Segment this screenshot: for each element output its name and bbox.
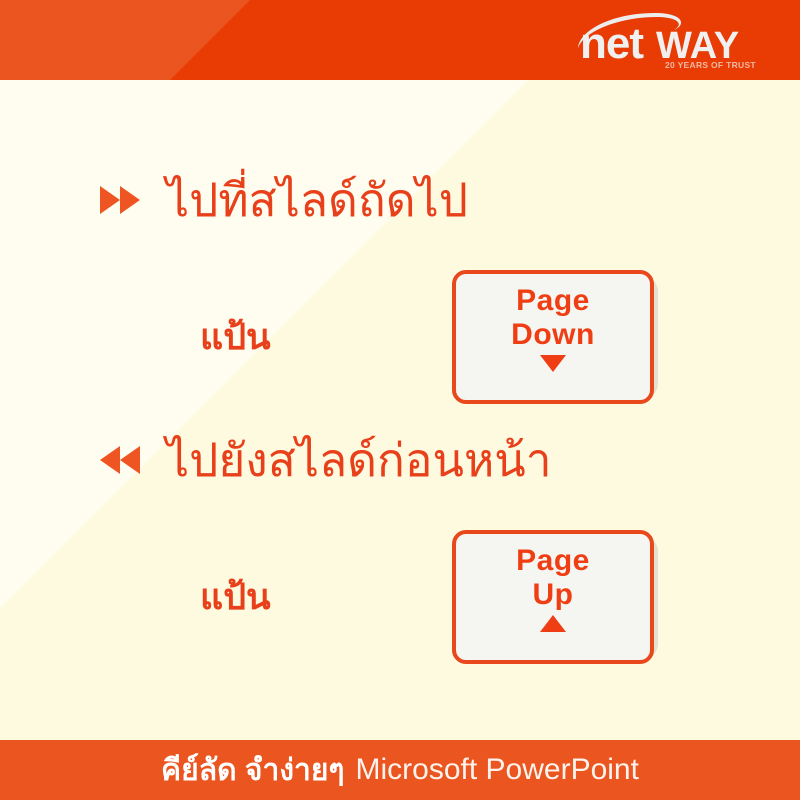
- triangle-down-icon: [540, 355, 566, 372]
- content-area: ไปที่สไลด์ถัดไป แป้น Page Down ไปยั: [0, 80, 800, 740]
- logo-tagline: 20 YEARS OF TRUST: [665, 60, 756, 70]
- footer-bar: คีย์ลัด จำง่ายๆ Microsoft PowerPoint: [0, 740, 800, 800]
- keycap-page-down-line2: Down: [511, 318, 595, 352]
- netway-logo-svg: net WAY 20 YEARS OF TRUST: [574, 12, 774, 72]
- keycap-page-up-line2: Up: [533, 578, 574, 612]
- footer-thai-text: คีย์ลัด จำง่ายๆ: [161, 747, 344, 794]
- rewind-icon: [100, 443, 144, 477]
- keycap-page-down-body[interactable]: Page Down: [452, 270, 654, 404]
- header-bar: net WAY 20 YEARS OF TRUST: [0, 0, 800, 80]
- row-prev-slide-heading: ไปยังสไลด์ก่อนหน้า: [100, 435, 552, 486]
- key-label-prev: แป้น: [200, 568, 271, 625]
- key-label-next: แป้น: [200, 308, 271, 365]
- logo-text-net: net: [580, 19, 644, 68]
- netway-logo: net WAY 20 YEARS OF TRUST: [574, 12, 774, 72]
- keycap-page-down-line1: Page: [516, 284, 590, 318]
- keycap-page-up[interactable]: Page Up: [452, 530, 658, 658]
- triangle-up-icon: [540, 615, 566, 632]
- header-corner-accent: [0, 0, 250, 80]
- next-slide-heading-text: ไปที่สไลด์ถัดไป: [166, 175, 468, 226]
- row-next-slide-heading: ไปที่สไลด์ถัดไป: [100, 175, 468, 226]
- fast-forward-icon: [100, 183, 144, 217]
- prev-slide-heading-text: ไปยังสไลด์ก่อนหน้า: [166, 435, 552, 486]
- keycap-page-down[interactable]: Page Down: [452, 270, 658, 398]
- footer-product-name: Microsoft PowerPoint: [356, 753, 639, 787]
- keycap-page-up-body[interactable]: Page Up: [452, 530, 654, 664]
- keycap-page-up-line1: Page: [516, 544, 590, 578]
- slide-canvas: net WAY 20 YEARS OF TRUST ไปที่สไลด์ถัดไ…: [0, 0, 800, 800]
